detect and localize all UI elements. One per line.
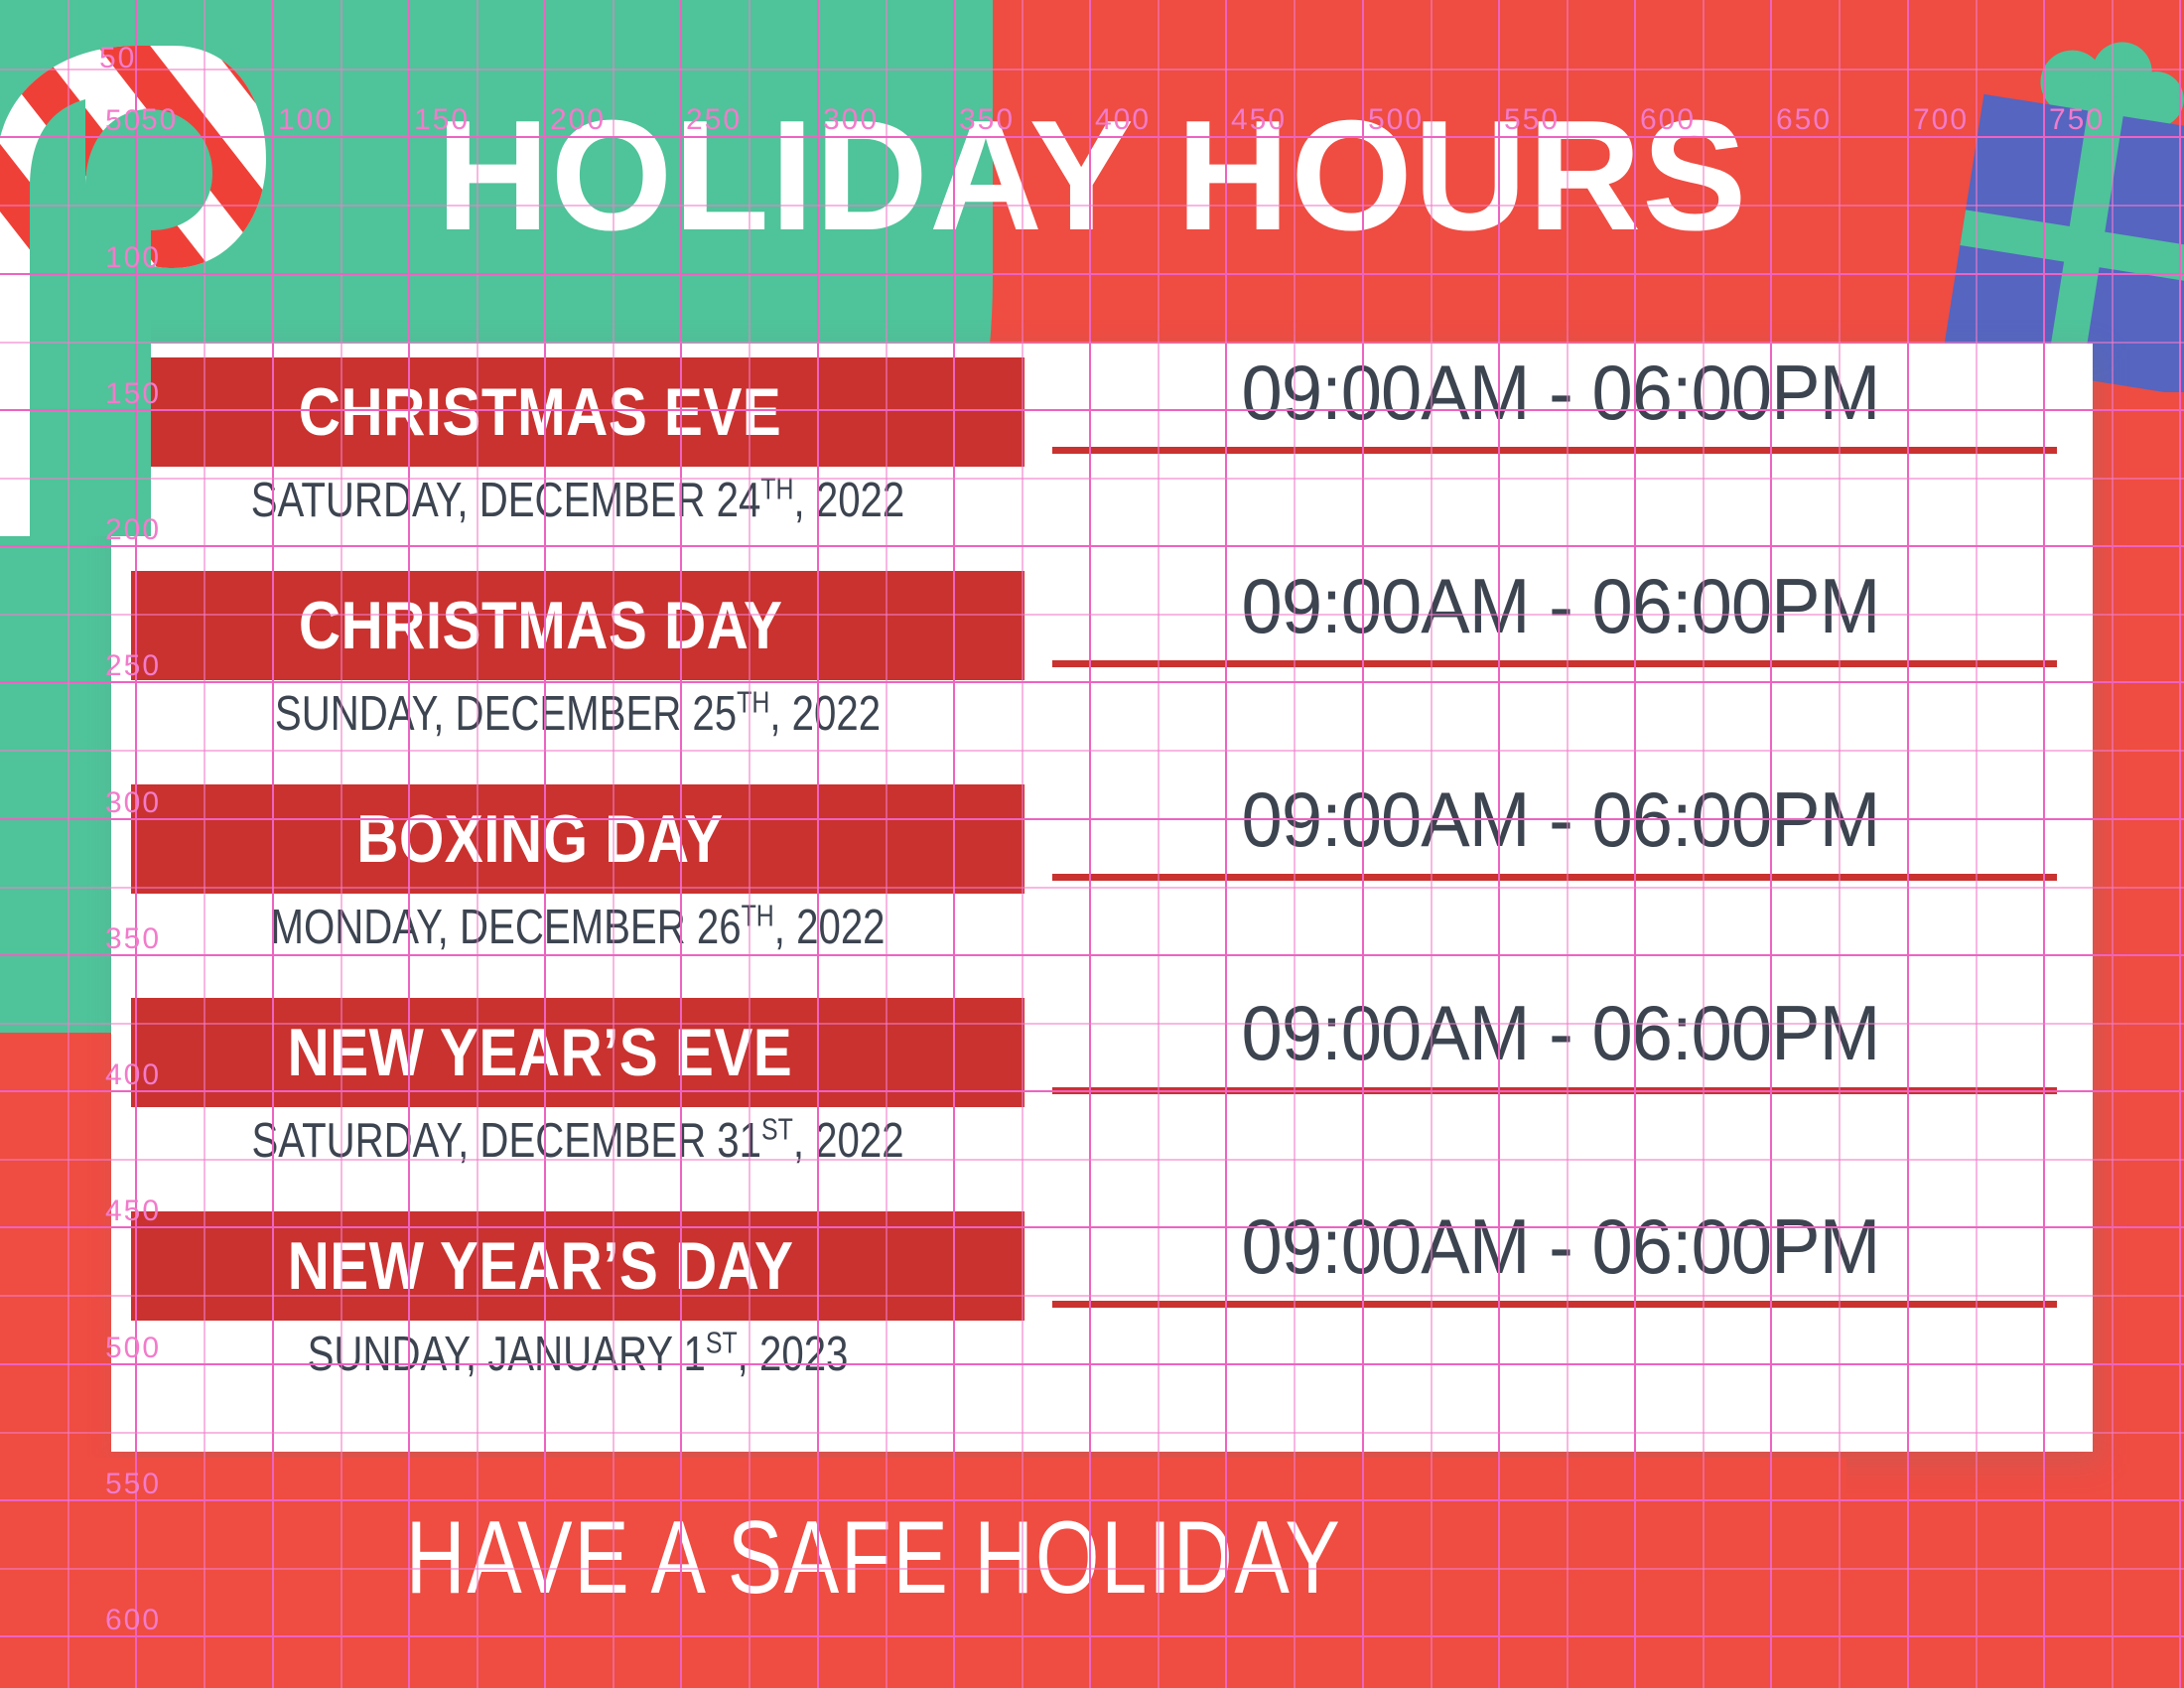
- schedule-rows: CHRISTMAS EVE SATURDAY, DECEMBER 24TH, 2…: [111, 344, 2093, 1452]
- date-ordinal: ST: [761, 1113, 793, 1147]
- holiday-label-bar: BOXING DAY: [131, 784, 1024, 894]
- date-main: SUNDAY, JANUARY 1: [308, 1328, 706, 1381]
- table-row: NEW YEAR’S EVE SATURDAY, DECEMBER 31ST, …: [111, 984, 2093, 1191]
- holiday-name: CHRISTMAS EVE: [299, 373, 857, 451]
- date-year: , 2022: [793, 1114, 904, 1168]
- schedule-card: CHRISTMAS EVE SATURDAY, DECEMBER 24TH, 2…: [111, 344, 2093, 1452]
- hours-text: 09:00AM - 06:00PM: [1061, 774, 2061, 865]
- hours-cell: 09:00AM - 06:00PM: [1034, 561, 2087, 651]
- date-ordinal: TH: [737, 686, 769, 720]
- hours-underline: [1052, 660, 2057, 667]
- hours-text: 09:00AM - 06:00PM: [1061, 1201, 2061, 1292]
- holiday-label-bar: CHRISTMAS DAY: [131, 571, 1024, 680]
- hours-cell: 09:00AM - 06:00PM: [1034, 348, 2087, 438]
- holiday-name: CHRISTMAS DAY: [298, 587, 857, 664]
- date-year: , 2022: [774, 901, 886, 954]
- holiday-date: SUNDAY, JANUARY 1ST, 2023: [211, 1327, 944, 1382]
- holiday-date: SATURDAY, DECEMBER 31ST, 2022: [211, 1113, 944, 1169]
- holiday-date: MONDAY, DECEMBER 26TH, 2022: [211, 900, 944, 955]
- hours-underline: [1052, 1301, 2057, 1308]
- hours-cell: 09:00AM - 06:00PM: [1034, 1201, 2087, 1292]
- hours-underline: [1052, 1087, 2057, 1094]
- holiday-hours-poster: HOLIDAY HOURS CHRISTMAS EVE SATURDAY, DE…: [0, 0, 2184, 1688]
- hours-text: 09:00AM - 06:00PM: [1061, 561, 2061, 651]
- table-row: NEW YEAR’S DAY SUNDAY, JANUARY 1ST, 2023…: [111, 1197, 2093, 1404]
- hours-text: 09:00AM - 06:00PM: [1061, 988, 2061, 1078]
- holiday-label-bar: NEW YEAR’S EVE: [131, 998, 1024, 1107]
- hours-cell: 09:00AM - 06:00PM: [1034, 774, 2087, 865]
- holiday-name: NEW YEAR’S EVE: [288, 1014, 868, 1091]
- date-year: , 2022: [769, 687, 881, 741]
- hours-underline: [1052, 874, 2057, 881]
- date-main: SUNDAY, DECEMBER 25: [275, 687, 737, 741]
- holiday-name: BOXING DAY: [356, 800, 798, 878]
- table-row: BOXING DAY MONDAY, DECEMBER 26TH, 2022 0…: [111, 771, 2093, 977]
- date-main: MONDAY, DECEMBER 26: [270, 901, 741, 954]
- date-year: , 2023: [738, 1328, 849, 1381]
- holiday-name: NEW YEAR’S DAY: [287, 1227, 868, 1305]
- holiday-label-bar: NEW YEAR’S DAY: [131, 1211, 1024, 1321]
- hours-underline: [1052, 447, 2057, 454]
- date-ordinal: ST: [706, 1327, 738, 1360]
- footer-message: HAVE A SAFE HOLIDAY: [175, 1499, 1572, 1618]
- page-title: HOLIDAY HOURS: [0, 97, 2184, 254]
- hours-text: 09:00AM - 06:00PM: [1061, 348, 2061, 438]
- hours-cell: 09:00AM - 06:00PM: [1034, 988, 2087, 1078]
- table-row: CHRISTMAS DAY SUNDAY, DECEMBER 25TH, 202…: [111, 557, 2093, 764]
- holiday-date: SATURDAY, DECEMBER 24TH, 2022: [211, 473, 944, 528]
- date-main: SATURDAY, DECEMBER 31: [251, 1114, 761, 1168]
- table-row: CHRISTMAS EVE SATURDAY, DECEMBER 24TH, 2…: [111, 344, 2093, 550]
- date-main: SATURDAY, DECEMBER 24: [251, 474, 761, 527]
- date-year: , 2022: [794, 474, 905, 527]
- date-ordinal: TH: [742, 900, 774, 933]
- holiday-date: SUNDAY, DECEMBER 25TH, 2022: [211, 686, 944, 742]
- date-ordinal: TH: [760, 473, 793, 506]
